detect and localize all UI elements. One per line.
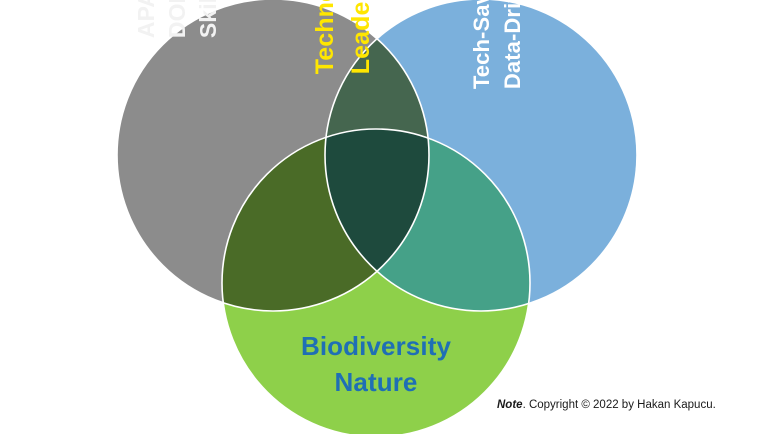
venn-diagram-canvas: APARTS Behaviors DOER Behaviors Skill-Ba… [0,0,762,434]
label-tech-savviness: Tech-Savviness [470,0,493,89]
label-doer-behaviors: DOER Behaviors [165,0,189,38]
label-biodiversity: Biodiversity [226,333,526,360]
label-technoversal: Technoversal [312,0,338,74]
note-prefix: Note [497,399,523,411]
label-data-driven-mindset: Data-Driven Mindset [501,0,524,89]
label-leadership: Leadership [348,0,374,74]
note-text: . Copyright © 2022 by Hakan Kapucu. [523,399,716,411]
label-skill-based-leadership: Skill-Based Leadership [196,0,220,38]
label-aparts-behaviors: APARTS Behaviors [134,0,158,38]
copyright-note: Note. Copyright © 2022 by Hakan Kapucu. [497,399,716,411]
label-nature: Nature [226,369,526,396]
